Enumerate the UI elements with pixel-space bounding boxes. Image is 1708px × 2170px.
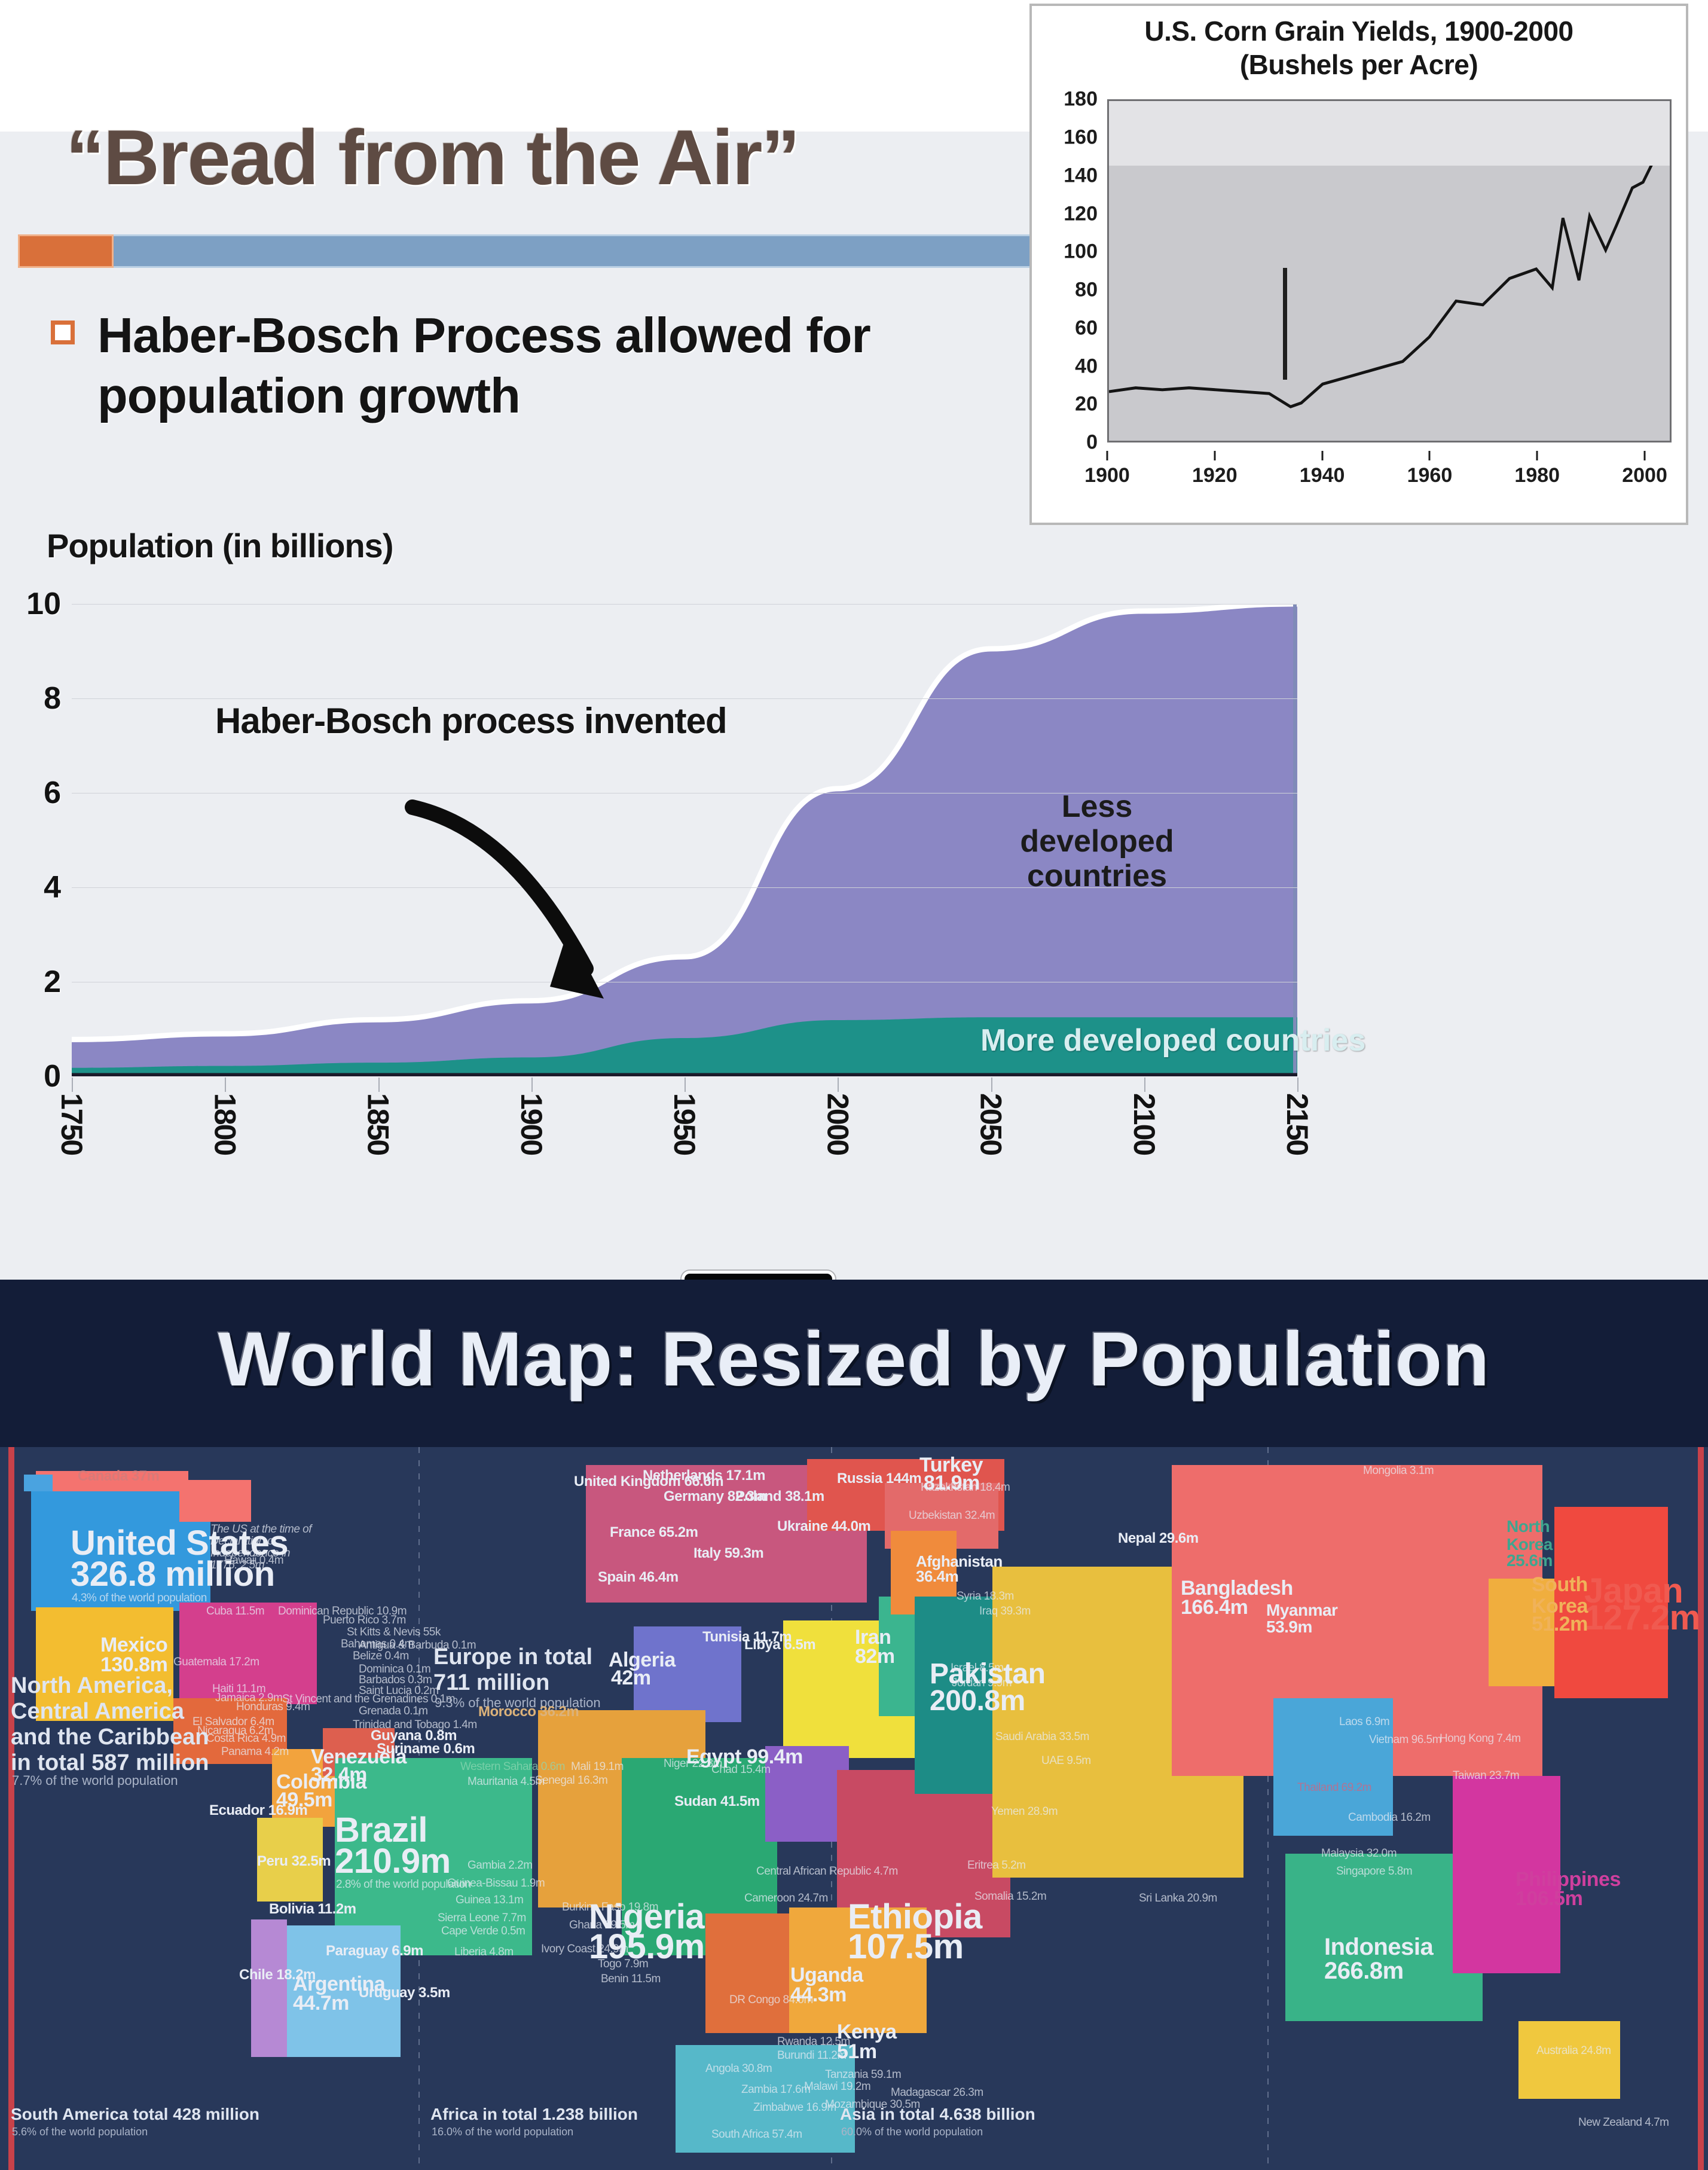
label-south-africa: South Africa 57.4m: [711, 2129, 802, 2141]
label-gambia: Gambia 2.2m: [468, 1860, 533, 1872]
label-rwanda: Rwanda 12.5m: [777, 2036, 850, 2048]
label-spain: Spain 46.4m: [598, 1570, 679, 1585]
label-burundi: Burundi 11.2m: [777, 2050, 847, 2062]
label-iran-value: 82m: [855, 1646, 895, 1667]
bar-main-segment: [114, 234, 1046, 268]
corn-plot-upper-band: [1109, 101, 1670, 166]
population-x-tick-mark: [838, 1078, 839, 1092]
label-belize: Belize 0.4m: [353, 1650, 409, 1662]
label-benin: Benin 11.5m: [601, 1973, 661, 1985]
label-africa-region: Africa in total 1.238 billion: [430, 2105, 638, 2124]
label-taiwan: Taiwan 23.7m: [1453, 1770, 1519, 1782]
label-saint-vincent: St Vincent and the Grenadines 0.1m: [282, 1693, 455, 1705]
shape-australia: [1518, 2021, 1620, 2099]
label-north-america-region: North America, Central America and the C…: [11, 1673, 209, 1776]
label-sri-lanka: Sri Lanka 20.9m: [1139, 1893, 1217, 1905]
label-europe-region: Europe in total 711 million: [433, 1644, 592, 1696]
label-puerto-rico: Puerto Rico 3.7m: [323, 1614, 406, 1626]
corn-x-tick-mark: [1644, 451, 1646, 460]
corn-y-tick: 0: [1086, 431, 1098, 454]
corn-x-tick-mark: [1429, 451, 1431, 460]
label-eritrea: Eritrea 5.2m: [967, 1860, 1025, 1872]
corn-x-tick-mark: [1536, 451, 1538, 460]
label-uganda-value: 44.3m: [790, 1984, 847, 2006]
population-x-tick-mark: [378, 1078, 380, 1092]
title-underline-bar: [18, 234, 1046, 268]
label-zambia: Zambia 17.6m: [741, 2084, 810, 2096]
label-tanzania: Tanzania 59.1m: [825, 2069, 901, 2081]
label-guinea-bissau: Guinea-Bissau 1.9m: [447, 1878, 545, 1890]
page-title: “Bread from the Air”: [66, 117, 1022, 199]
label-ukraine: Ukraine 44.0m: [777, 1519, 870, 1534]
corn-x-tick-mark: [1107, 451, 1108, 460]
label-cambodia: Cambodia 16.2m: [1348, 1812, 1431, 1824]
label-argentina-value: 44.7m: [293, 1992, 349, 2014]
label-asia-share: 60.0% of the world population: [841, 2126, 983, 2138]
label-yemen: Yemen 28.9m: [991, 1806, 1058, 1818]
label-myanmar: Myanmar: [1266, 1601, 1337, 1619]
shape-usa-east: [179, 1480, 251, 1522]
corn-y-tick: 20: [1075, 393, 1098, 416]
shape-chile: [251, 1919, 287, 2057]
label-laos: Laos 6.9m: [1339, 1716, 1389, 1728]
corn-y-tick: 60: [1075, 316, 1098, 340]
corn-y-tick: 100: [1064, 240, 1098, 264]
label-panama: Panama 4.2m: [221, 1746, 289, 1758]
label-grenada: Grenada 0.1m: [359, 1705, 427, 1717]
label-south-korea: South Korea: [1532, 1574, 1588, 1617]
label-sudan: Sudan 41.5m: [674, 1794, 760, 1809]
label-saint-kitts: St Kitts & Nevis 55k: [347, 1626, 441, 1638]
label-western-sahara: Western Sahara 0.6m: [460, 1761, 565, 1773]
corn-y-tick: 160: [1064, 126, 1098, 149]
population-gridline: [72, 887, 1297, 888]
annotation-arrow-icon: [407, 789, 658, 1040]
label-south-korea-value: 51.2m: [1532, 1613, 1588, 1635]
label-myanmar-value: 53.9m: [1266, 1618, 1312, 1636]
corn-y-tick: 120: [1064, 202, 1098, 225]
label-bangladesh-value: 166.4m: [1181, 1597, 1248, 1618]
population-x-tick-mark: [991, 1078, 992, 1092]
corn-y-tick: 140: [1064, 164, 1098, 187]
slide-deck-screenshot: “Bread from the Air” Haber-Bosch Process…: [0, 0, 1708, 2170]
corn-x-tick-label: 1940: [1300, 464, 1345, 487]
population-axis-title: Population (in billions): [47, 526, 393, 565]
label-indonesia: Indonesia: [1324, 1934, 1433, 1960]
corn-plot-region: [1107, 99, 1672, 442]
label-united-states-share: 4.3% of the world population: [72, 1592, 207, 1604]
square-bullet-icon: [51, 321, 75, 344]
corn-y-tick: 40: [1075, 355, 1098, 378]
label-liberia: Liberia 4.8m: [454, 1946, 514, 1958]
label-malawi: Malawi 19.2m: [804, 2081, 870, 2093]
population-x-tick-mark: [531, 1078, 533, 1092]
label-netherlands: Netherlands 17.1m: [643, 1468, 765, 1483]
label-uae: UAE 9.5m: [1041, 1755, 1091, 1767]
population-x-tick-label: 2000: [820, 1093, 855, 1155]
population-area-chart: Population (in billions) Less developed …: [0, 526, 1315, 1286]
slide-bread-from-the-air: “Bread from the Air” Haber-Bosch Process…: [0, 0, 1708, 1280]
population-gridline: [72, 793, 1297, 793]
population-gridline: [72, 604, 1297, 605]
label-suriname: Suriname 0.6m: [377, 1741, 475, 1756]
label-canada: Canada 37m: [78, 1469, 159, 1484]
bar-accent-segment: [18, 234, 114, 268]
map-right-border: [1698, 1447, 1704, 2170]
population-plot-region: Less developed countries More developed …: [72, 604, 1297, 1076]
label-angola: Angola 30.8m: [705, 2063, 772, 2075]
label-australia: Australia 24.8m: [1536, 2045, 1611, 2057]
label-indonesia-value: 266.8m: [1324, 1958, 1404, 1983]
label-mali: Mali 19.1m: [571, 1761, 624, 1773]
label-more-developed-countries: More developed countries: [980, 1023, 1365, 1058]
corn-y-tick: 80: [1075, 279, 1098, 302]
population-x-tick-label: 2150: [1280, 1093, 1315, 1155]
population-cartogram: Canada 37m United States 326.8 million 4…: [0, 1447, 1708, 2170]
label-mauritania: Mauritania 4.5m: [468, 1776, 545, 1788]
corn-x-tick-label: 1960: [1407, 464, 1453, 487]
population-x-tick-label: 1750: [54, 1093, 89, 1155]
population-x-tick-mark: [1144, 1078, 1145, 1092]
map-left-border: [8, 1447, 14, 2170]
label-morocco: Morocco 36.2m: [478, 1704, 579, 1719]
population-y-tick-label: 8: [7, 680, 61, 716]
label-hong-kong: Hong Kong 7.4m: [1440, 1733, 1521, 1745]
label-guinea: Guinea 13.1m: [456, 1894, 523, 1906]
label-algeria-value: 42m: [611, 1667, 651, 1689]
label-central-african-rep: Central African Republic 4.7m: [756, 1866, 898, 1878]
corn-plot-area: 020406080100120140160180 190019201940196…: [1043, 93, 1675, 476]
label-brazil-value: 210.9m: [335, 1843, 451, 1879]
label-guatemala: Guatemala 17.2m: [173, 1656, 259, 1668]
population-y-tick-label: 10: [7, 586, 61, 622]
label-ecuador: Ecuador 16.9m: [209, 1803, 307, 1818]
population-x-tick-mark: [1297, 1078, 1298, 1092]
label-thailand: Thailand 69.2m: [1297, 1782, 1371, 1794]
label-pakistan-value: 200.8m: [930, 1686, 1025, 1717]
corn-x-axis: 190019201940196019802000: [1107, 451, 1672, 499]
label-mexico-value: 130.8m: [100, 1654, 167, 1675]
label-venezuela-value: 32.4m: [311, 1764, 367, 1786]
label-paraguay: Paraguay 6.9m: [326, 1943, 423, 1958]
corn-x-tick-label: 2000: [1622, 464, 1667, 487]
corn-y-axis: 020406080100120140160180: [1043, 93, 1105, 442]
label-japan-value: 127.2m: [1584, 1600, 1700, 1636]
corn-x-tick-label: 1900: [1084, 464, 1130, 487]
population-y-tick-label: 4: [7, 869, 61, 905]
label-syria: Syria 18.3m: [957, 1591, 1014, 1603]
label-south-america-share: 5.6% of the world population: [12, 2126, 148, 2138]
corn-x-tick-mark: [1321, 451, 1323, 460]
label-zimbabwe: Zimbabwe 16.9m: [753, 2102, 836, 2114]
label-nepal: Nepal 29.6m: [1118, 1531, 1199, 1546]
population-x-tick-label: 1950: [667, 1093, 702, 1155]
label-chad: Chad 15.4m: [711, 1764, 771, 1776]
label-malaysia: Malaysia 32.0m: [1321, 1848, 1397, 1860]
label-ethiopia-value: 107.5m: [848, 1928, 964, 1965]
slide-world-map: World Map: Resized by Population: [0, 1280, 1708, 2170]
corn-x-tick-label: 1920: [1192, 464, 1238, 487]
world-map-title: World Map: Resized by Population: [0, 1316, 1708, 1403]
population-y-tick-label: 6: [7, 775, 61, 811]
corn-yield-chart: U.S. Corn Grain Yields, 1900-2000 (Bushe…: [1029, 4, 1688, 525]
population-x-tick-mark: [225, 1078, 226, 1092]
label-north-america-share: 7.7% of the world population: [12, 1773, 178, 1789]
label-somalia: Somalia 15.2m: [974, 1891, 1046, 1903]
label-nicaragua: Nicaragua 6.2m: [197, 1725, 273, 1737]
label-mexico: Mexico: [100, 1634, 167, 1656]
label-bolivia: Bolivia 11.2m: [269, 1902, 356, 1916]
label-sierra-leone: Sierra Leone 7.7m: [438, 1912, 526, 1924]
label-north-korea: North Korea: [1507, 1518, 1553, 1553]
bullet-item: Haber-Bosch Process allowed for populati…: [51, 305, 1019, 426]
corn-chart-title: U.S. Corn Grain Yields, 1900-2000 (Bushe…: [1043, 14, 1675, 81]
population-y-tick-label: 2: [7, 964, 61, 1000]
population-gridline: [72, 982, 1297, 982]
population-x-tick-label: 1850: [361, 1093, 396, 1155]
population-x-tick-label: 2050: [974, 1093, 1009, 1155]
label-afghanistan-value: 36.4m: [916, 1568, 958, 1585]
label-italy: Italy 59.3m: [693, 1546, 763, 1561]
corn-y-tick: 180: [1064, 88, 1098, 111]
haber-bosch-annotation: Haber-Bosch process invented: [215, 697, 727, 745]
label-philippines-value: 106.5m: [1515, 1888, 1582, 1909]
label-africa-share: 16.0% of the world population: [432, 2126, 573, 2138]
label-less-developed-countries: Less developed countries: [998, 789, 1196, 894]
population-x-tick-label: 2100: [1127, 1093, 1162, 1155]
population-x-tick-mark: [72, 1078, 73, 1092]
label-north-korea-value: 25.6m: [1507, 1552, 1553, 1570]
label-uganda: Uganda: [790, 1964, 863, 1986]
label-singapore: Singapore 5.8m: [1336, 1866, 1412, 1878]
label-saudi-arabia: Saudi Arabia 33.5m: [995, 1731, 1089, 1743]
shape-alaska: [24, 1475, 53, 1491]
label-south-america-region: South America total 428 million: [11, 2105, 259, 2124]
label-nigeria-value: 195.9m: [589, 1928, 705, 1965]
label-mongolia: Mongolia 3.1m: [1363, 1465, 1434, 1477]
label-cameroon: Cameroon 24.7m: [744, 1893, 828, 1905]
label-vietnam: Vietnam 96.5m: [1369, 1734, 1441, 1746]
label-jamaica: Jamaica 2.9m: [215, 1692, 282, 1704]
label-hawaii: Hawaii 0.4m: [224, 1555, 283, 1567]
corn-x-tick-mark: [1214, 451, 1215, 460]
label-libya: Libya 6.5m: [744, 1637, 815, 1652]
label-russia: Russia 144m: [837, 1471, 921, 1486]
population-x-tick-mark: [685, 1078, 686, 1092]
label-iraq: Iraq 39.3m: [979, 1606, 1031, 1617]
label-uzbekistan: Uzbekistan 32.4m: [909, 1510, 995, 1522]
population-x-tick-label: 1800: [207, 1093, 242, 1155]
label-senegal: Senegal 16.3m: [535, 1775, 607, 1787]
label-asia-region: Asia in total 4.638 billion: [840, 2105, 1035, 2124]
label-dominica: Dominica 0.1m: [359, 1664, 430, 1675]
corn-x-tick-label: 1980: [1514, 464, 1560, 487]
label-new-zealand: New Zealand 4.7m: [1578, 2117, 1669, 2129]
corn-spike-marker: [1283, 268, 1287, 380]
label-peru: Peru 32.5m: [257, 1854, 331, 1869]
label-cape-verde: Cape Verde 0.5m: [441, 1925, 525, 1937]
population-y-tick-label: 0: [7, 1058, 61, 1094]
label-cuba: Cuba 11.5m: [206, 1606, 264, 1617]
label-kazakhstan: Kazakhstan 18.4m: [921, 1482, 1010, 1494]
label-poland: Poland 38.1m: [735, 1489, 824, 1504]
label-madagascar: Madagascar 26.3m: [891, 2087, 983, 2099]
label-france: France 65.2m: [610, 1525, 698, 1540]
bullet-text: Haber-Bosch Process allowed for populati…: [97, 305, 1019, 426]
population-x-tick-label: 1900: [514, 1093, 549, 1155]
